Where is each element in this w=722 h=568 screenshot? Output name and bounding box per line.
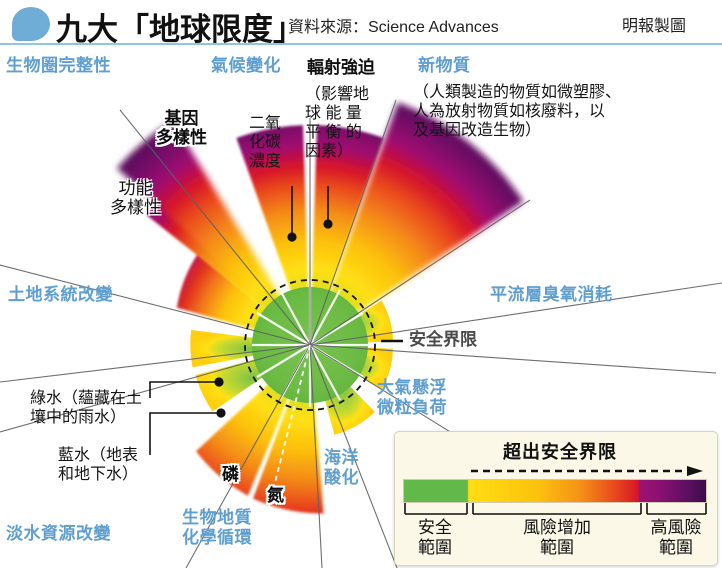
boundary-label-ocean-acidification: 海洋 酸化 [324,448,359,488]
right-arrow-icon [471,466,703,476]
wedge-label-phosphorus: 磷 [222,466,239,485]
annotation-radiative-forcing-body: （影響地 球 能 量 平 衡 的 因素） [305,86,369,162]
wedge-label-genetic-diversity: 基因 多樣性 [156,110,207,147]
annotation-safe-boundary: 安全界限 [409,330,477,350]
boundary-label-novel-entities: 新物質 [418,56,471,76]
annotation-novel-entities-body: （人類製造的物質如微塑膠、 人為放射物質如核廢料，以 及基因改造生物） [413,84,621,141]
wedge-label-functional-diversity: 功能 多樣性 [110,180,161,217]
boundary-label-climate-change: 氣候變化 [211,56,281,76]
boundary-label-biogeochemical: 生物地質 化學循環 [182,508,252,548]
boundary-label-ozone-depletion: 平流層臭氧消耗 [490,285,613,305]
legend-caption-high-risk: 高風險 範圍 [643,518,709,558]
boundary-label-biosphere: 生物圈完整性 [6,56,111,76]
boundary-label-freshwater: 淡水資源改變 [6,524,111,544]
legend-tick-marks [403,502,709,516]
annotation-co2-concentration: 二氧 化碳 濃度 [249,115,281,172]
annotation-blue-water: 藍水（地表 和地下水） [58,447,138,485]
legend-gradient-bar [403,479,707,503]
legend-title: 超出安全界限 [503,438,617,464]
legend-panel: 超出安全界限 安全 範圍 風險增加 範圍 高風險 範圍 [394,431,718,566]
boundary-label-aerosol-loading: 大氣懸浮 微粒負荷 [377,378,447,418]
wedge-label-nitrogen: 氮 [267,487,284,506]
infographic-root: 九大「地球限度」 資料來源：Science Advances 明報製圖 [0,0,722,568]
annotation-green-water: 綠水（蘊藏在土 壤中的雨水） [30,390,142,428]
annotation-radiative-forcing-title: 輻射強迫 [307,58,375,78]
boundary-label-land-system: 土地系統改變 [8,285,113,305]
legend-caption-increasing-risk: 風險增加 範圍 [477,518,637,558]
legend-caption-safe: 安全 範圍 [405,518,465,558]
